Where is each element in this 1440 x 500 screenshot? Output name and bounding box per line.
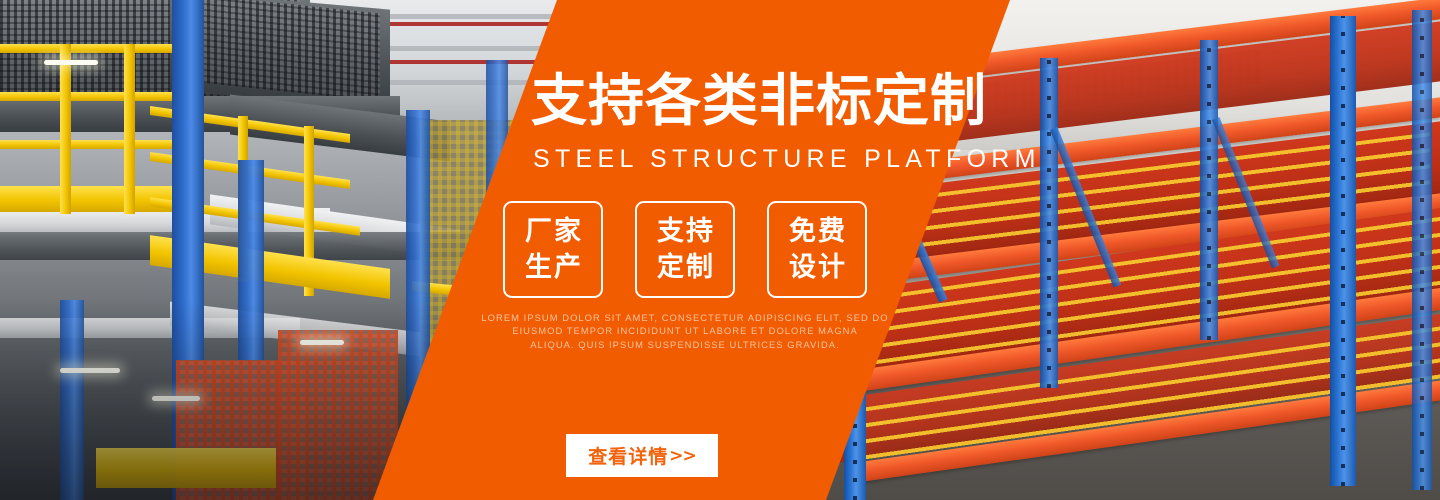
badge-line-2: 设计 bbox=[787, 250, 847, 286]
banner-content: 支持各类非标定制 STEEL STRUCTURE PLATFORM 厂家 生产 … bbox=[0, 0, 1440, 500]
page-subtitle: STEEL STRUCTURE PLATFORM bbox=[533, 145, 1041, 174]
badge-line-1: 厂家 bbox=[523, 214, 583, 250]
badge-supports-customization[interactable]: 支持 定制 bbox=[635, 201, 735, 298]
description-text: LOREM IPSUM DOLOR SIT AMET, CONSECTETUR … bbox=[425, 311, 945, 351]
description-line-1: LOREM IPSUM DOLOR SIT AMET, CONSECTETUR … bbox=[425, 311, 945, 324]
description-line-2: EIUSMOD TEMPOR INCIDIDUNT UT LABORE ET D… bbox=[425, 324, 945, 337]
feature-badge-list: 厂家 生产 支持 定制 免费 设计 bbox=[503, 201, 867, 298]
badge-line-1: 支持 bbox=[655, 214, 715, 250]
badge-line-2: 定制 bbox=[655, 250, 715, 286]
double-chevron-right-icon: >> bbox=[669, 446, 696, 466]
badge-free-design[interactable]: 免费 设计 bbox=[767, 201, 867, 298]
badge-line-1: 免费 bbox=[787, 214, 847, 250]
description-line-3: ALIQUA. QUIS IPSUM SUSPENDISSE ULTRICES … bbox=[425, 338, 945, 351]
page-title: 支持各类非标定制 bbox=[531, 74, 987, 130]
badge-line-2: 生产 bbox=[523, 250, 583, 286]
view-details-button[interactable]: 查看详情>> bbox=[566, 434, 718, 477]
promo-banner: 支持各类非标定制 STEEL STRUCTURE PLATFORM 厂家 生产 … bbox=[0, 0, 1440, 500]
cta-label: 查看详情 bbox=[588, 442, 668, 469]
badge-manufacturer-production[interactable]: 厂家 生产 bbox=[503, 201, 603, 298]
